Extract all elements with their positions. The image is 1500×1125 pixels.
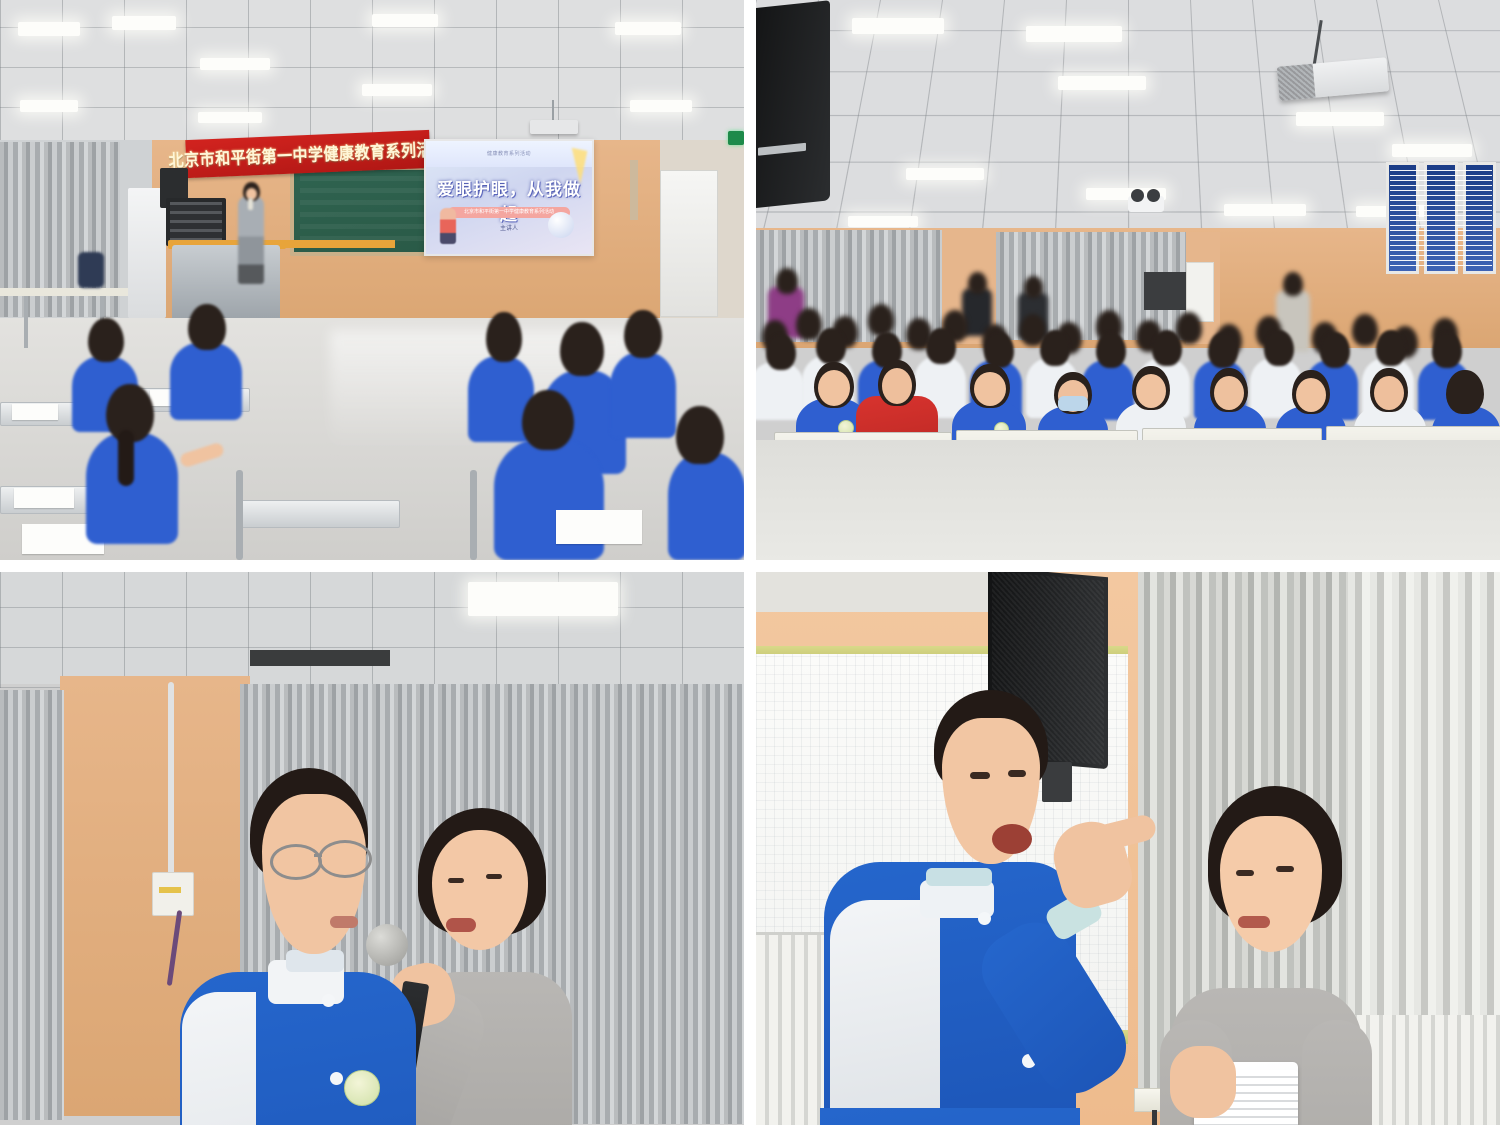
- ceiling-light-panel: [906, 168, 984, 180]
- eyeglasses-bridge: [314, 854, 322, 857]
- ceiling-light-panel: [198, 112, 262, 123]
- hanging-speaker: [756, 0, 830, 208]
- standing-adult-head: [968, 272, 987, 294]
- student-eye: [970, 772, 990, 779]
- teacher-mouth: [446, 918, 476, 932]
- table-leg: [1152, 1110, 1157, 1125]
- photo-auditorium-audience: [756, 0, 1500, 560]
- photo-student-with-microphone: [0, 572, 744, 1125]
- collage-panel-top-right[interactable]: [756, 0, 1500, 560]
- teacher-arm: [1302, 1020, 1372, 1125]
- seated-student-body: [668, 452, 744, 560]
- teacher-hand: [1170, 1046, 1236, 1118]
- ceiling-light-panel: [1026, 26, 1122, 42]
- seated-student-head: [188, 304, 226, 350]
- ceiling-light-panel: [1058, 76, 1146, 90]
- auditorium-floor: [756, 440, 1500, 560]
- seated-student-head: [560, 322, 604, 376]
- event-banner-text: 北京市和平街第一中学健康教育系列活动: [168, 136, 448, 172]
- ceiling-light-panel: [18, 22, 80, 36]
- ceiling-light-panel: [1296, 112, 1384, 126]
- ceiling-tile-grid: [0, 572, 744, 688]
- ceiling-light-panel: [1224, 204, 1306, 216]
- electrical-box: [152, 872, 194, 916]
- handout-paper: [14, 488, 74, 508]
- eyeglasses-right-lens: [318, 840, 372, 878]
- notice-board-group: [1386, 162, 1496, 274]
- eyeglasses-left-lens: [270, 844, 322, 880]
- ceiling-light-panel: [615, 22, 681, 35]
- emergency-exit-sign: [728, 131, 744, 145]
- photo-classroom-lecture: 北京市和平街第一中学健康教育系列活动 健康教育系列活动 爱眼护眼，从我做起 北京…: [0, 0, 744, 560]
- ceiling-light-panel: [362, 84, 432, 96]
- speaker-bracket: [1042, 762, 1072, 802]
- projection-screen: 健康教育系列活动 爱眼护眼，从我做起 北京市和平街第一中学健康教育系列活动 主讲…: [424, 139, 594, 256]
- window-curtain: [0, 690, 64, 1120]
- ceiling-edge: [756, 572, 996, 612]
- wall-conduit: [168, 682, 174, 878]
- seated-student-head: [676, 406, 724, 464]
- student-mouth-open: [992, 824, 1032, 854]
- slide-illustration-figure: [440, 208, 456, 244]
- student-jacket-sleeve: [830, 900, 940, 1125]
- slide-illustration-ball: [548, 212, 574, 238]
- ceiling-light-panel: [20, 100, 78, 112]
- student-mouth: [330, 916, 358, 928]
- photo-student-teacher-discussion: [756, 572, 1500, 1125]
- side-table: [280, 240, 395, 248]
- student-desk: [238, 500, 400, 528]
- ceiling-light-panel: [848, 216, 918, 227]
- jacket-button: [322, 994, 335, 1007]
- teacher-eye: [486, 874, 502, 879]
- collage-panel-top-left[interactable]: 北京市和平街第一中学健康教育系列活动 健康教育系列活动 爱眼护眼，从我做起 北京…: [0, 0, 744, 560]
- standing-adult-head: [776, 268, 798, 294]
- standing-adult-head: [1024, 276, 1043, 298]
- ponytail: [118, 430, 134, 486]
- backpack: [78, 252, 104, 288]
- seated-student-head: [522, 390, 574, 450]
- student-eye: [1008, 770, 1026, 777]
- projector-mount: [552, 100, 554, 122]
- teacher-mouth: [1238, 916, 1270, 928]
- seated-student-body: [170, 342, 242, 420]
- face-mask: [1058, 396, 1088, 411]
- table-leg: [24, 296, 28, 348]
- seated-student-head: [88, 318, 124, 362]
- notice-board: [1463, 162, 1496, 274]
- teacher-eye: [1236, 870, 1254, 876]
- slide-header-small: 健康教育系列活动: [426, 150, 592, 157]
- ceiling-projector: [530, 120, 578, 134]
- collage-panel-bottom-right[interactable]: [756, 572, 1500, 1125]
- teacher-eye: [1276, 866, 1294, 872]
- ceiling-light-panel: [112, 16, 176, 30]
- seated-student-body: [610, 352, 676, 438]
- presenter-microphone: [248, 198, 253, 210]
- photo-collage: 北京市和平街第一中学健康教育系列活动 健康教育系列活动 爱眼护眼，从我做起 北京…: [0, 0, 1500, 1125]
- chair-frame: [236, 470, 243, 560]
- jacket-collar-stripe: [926, 868, 992, 886]
- ceiling-light-panel: [852, 18, 944, 34]
- ceiling-camera: [1128, 196, 1164, 212]
- collage-panel-bottom-left[interactable]: [0, 572, 744, 1125]
- handout-paper: [12, 404, 58, 420]
- standing-adult-head: [1283, 272, 1303, 296]
- ceiling-light-panel: [630, 100, 692, 112]
- side-table-back: [0, 288, 128, 296]
- seated-student-head: [624, 310, 662, 358]
- chair-frame: [470, 470, 477, 560]
- student-jacket-sleeve: [182, 992, 256, 1125]
- ceiling-gap: [250, 650, 390, 666]
- jacket-button: [330, 1072, 343, 1085]
- student-jacket-lower: [820, 1108, 1080, 1125]
- av-equipment-rack: [166, 198, 226, 246]
- jacket-button: [978, 912, 991, 925]
- seated-student-head: [486, 312, 522, 362]
- ceiling-light-panel: [372, 14, 438, 27]
- microphone-head: [366, 924, 408, 966]
- handout-paper: [556, 510, 642, 544]
- wall-pipe: [630, 160, 638, 220]
- ceiling-light-panel: [468, 582, 618, 616]
- ceiling-light-panel: [200, 58, 270, 70]
- teacher-eye: [448, 878, 464, 883]
- school-badge: [344, 1070, 380, 1106]
- ceiling-light-panel: [1392, 144, 1472, 157]
- white-door[interactable]: [660, 170, 718, 317]
